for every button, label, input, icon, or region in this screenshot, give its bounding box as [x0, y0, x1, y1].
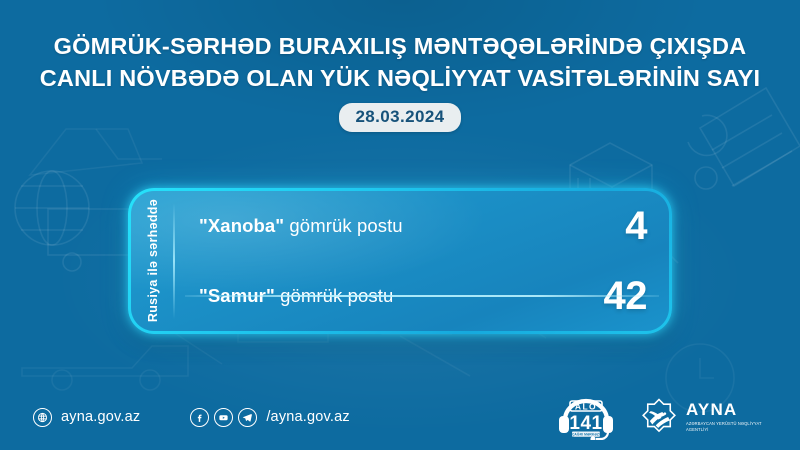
alo-caption: ÇAĞRI MƏRKƏZİ — [572, 432, 600, 437]
footer-left: ayna.gov.az — [0, 408, 350, 427]
alo141-logo: ALO 141 ÇAĞRI MƏRKƏZİ — [553, 394, 619, 440]
youtube-icon[interactable] — [214, 408, 233, 427]
page-title-line-1: GÖMRÜK-SƏRHƏD BURAXILIŞ MƏNTƏQƏLƏRİNDƏ Ç… — [0, 30, 800, 62]
website-url[interactable]: ayna.gov.az — [61, 409, 140, 425]
alo-label: ALO — [575, 401, 597, 411]
ayna-name: AYNA — [686, 401, 778, 418]
checkpoint-name-xanoba: "Xanoba" gömrük postu — [199, 215, 625, 237]
facebook-icon[interactable] — [190, 408, 209, 427]
checkpoint-name-strong: "Xanoba" — [199, 215, 284, 236]
alo-number: 141 — [569, 413, 602, 434]
telegram-icon[interactable] — [238, 408, 257, 427]
ayna-text-block: AYNA AZƏRBAYCAN YERÜSTÜ NƏQLİYYAT AGENTL… — [686, 401, 778, 432]
social-group[interactable]: /ayna.gov.az — [190, 408, 350, 427]
ayna-mark — [639, 397, 679, 437]
table-row: "Samur" gömrük postu 42 — [175, 261, 669, 331]
website-group[interactable]: ayna.gov.az — [33, 408, 140, 427]
row-divider — [185, 295, 659, 297]
stats-rows: "Xanoba" gömrük postu 4 "Samur" gömrük p… — [175, 191, 669, 331]
social-icons — [190, 408, 257, 427]
table-row: "Xanoba" gömrük postu 4 — [175, 191, 669, 261]
date-badge-container: 28.03.2024 — [0, 103, 800, 132]
footer-logos: ALO 141 ÇAĞRI MƏRKƏZİ — [553, 394, 800, 440]
social-handle[interactable]: /ayna.gov.az — [266, 409, 350, 425]
page-title-line-2: CANLI NÖVBƏDƏ OLAN YÜK NƏQLİYYAT VASİTƏL… — [0, 62, 800, 94]
border-group-label-text: Rusiya ilə sərhəddə — [146, 199, 160, 322]
ayna-logo: AYNA AZƏRBAYCAN YERÜSTÜ NƏQLİYYAT AGENTL… — [639, 397, 778, 437]
stats-card: Rusiya ilə sərhəddə "Xanoba" gömrük post… — [128, 188, 672, 334]
checkpoint-value-xanoba: 4 — [625, 206, 647, 246]
ayna-subtitle: AZƏRBAYCAN YERÜSTÜ NƏQLİYYAT AGENTLİYİ — [686, 421, 778, 433]
checkpoint-name-suffix: gömrük postu — [284, 215, 403, 236]
globe-icon — [33, 408, 52, 427]
date-badge: 28.03.2024 — [339, 103, 460, 132]
footer: ayna.gov.az — [0, 384, 800, 450]
border-group-label: Rusiya ilə sərhəddə — [131, 191, 175, 331]
header: GÖMRÜK-SƏRHƏD BURAXILIŞ MƏNTƏQƏLƏRİNDƏ Ç… — [0, 0, 800, 132]
stats-card-inner: Rusiya ilə sərhəddə "Xanoba" gömrük post… — [131, 191, 669, 331]
